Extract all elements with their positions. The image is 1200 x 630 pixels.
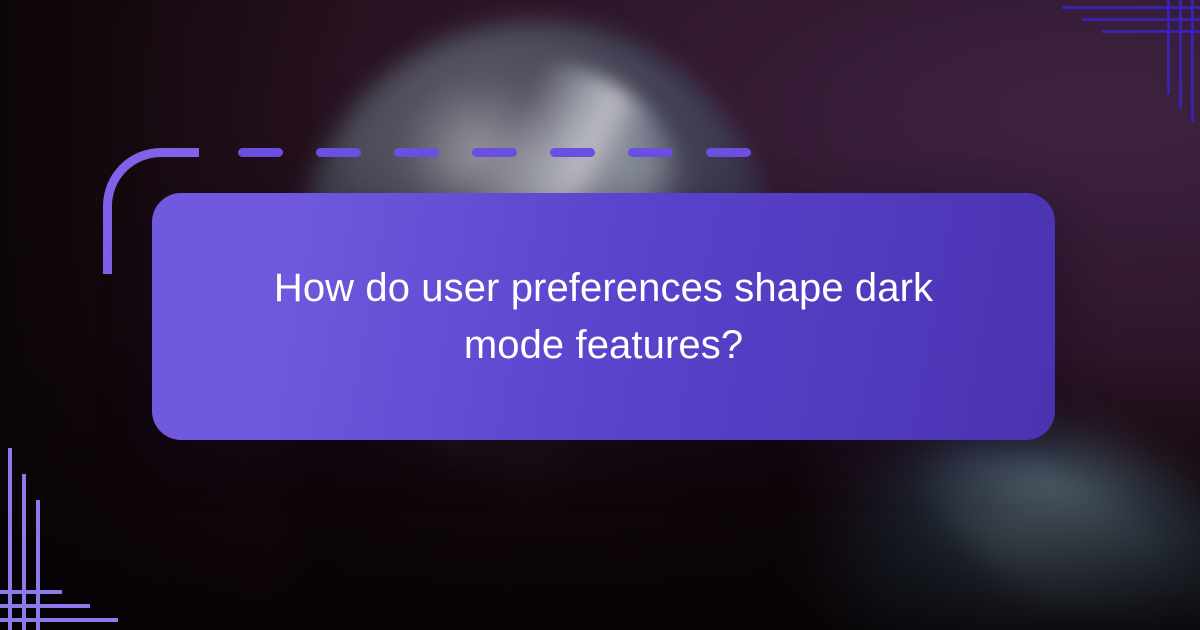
corner-line-vertical-inner bbox=[36, 500, 40, 630]
bracket-dash bbox=[238, 148, 283, 157]
question-text: How do user preferences shape dark mode … bbox=[160, 260, 1048, 374]
corner-line-vertical-inner bbox=[1167, 0, 1170, 94]
bracket-dash bbox=[394, 148, 439, 157]
bracket-dash bbox=[472, 148, 517, 157]
bracket-dash bbox=[706, 148, 751, 157]
corner-line-vertical-outer bbox=[8, 448, 12, 630]
corner-line-horizontal-middle bbox=[1082, 18, 1200, 21]
corner-decoration-bottom-left bbox=[0, 430, 200, 630]
social-card-canvas: How do user preferences shape dark mode … bbox=[0, 0, 1200, 630]
corner-line-vertical-middle bbox=[1179, 0, 1182, 108]
corner-line-vertical-outer bbox=[1191, 0, 1194, 122]
dash-row-top bbox=[238, 148, 784, 157]
bracket-dash bbox=[550, 148, 595, 157]
question-card: How do user preferences shape dark mode … bbox=[152, 193, 1055, 440]
corner-line-horizontal-inner bbox=[1102, 30, 1200, 33]
bracket-dash bbox=[316, 148, 361, 157]
corner-decoration-top-right bbox=[1010, 0, 1200, 190]
corner-line-horizontal-middle bbox=[0, 604, 90, 608]
corner-line-horizontal-outer bbox=[0, 618, 118, 622]
corner-line-vertical-middle bbox=[22, 474, 26, 630]
bracket-dash bbox=[628, 148, 673, 157]
